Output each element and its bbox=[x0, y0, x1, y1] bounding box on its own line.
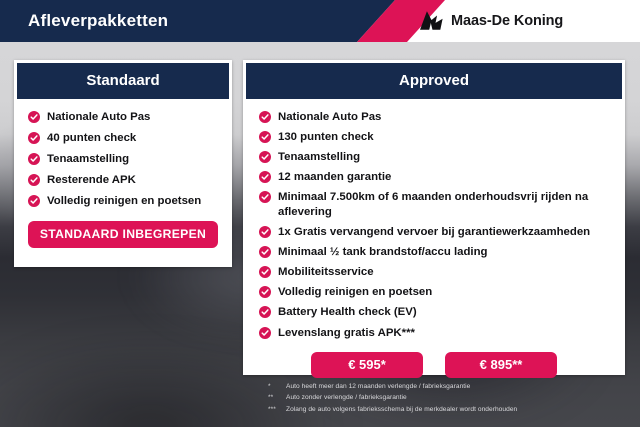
list-item-label: 1x Gratis vervangend vervoer bij garanti… bbox=[278, 225, 590, 240]
card-approved-body: Nationale Auto Pas 130 punten check Tena… bbox=[243, 99, 625, 378]
check-circle-icon bbox=[259, 286, 271, 298]
list-item: Nationale Auto Pas bbox=[259, 110, 615, 125]
page-header: Afleverpakketten Maas-De Koning bbox=[0, 0, 640, 42]
price-button-row: € 595* € 895** bbox=[243, 352, 625, 378]
list-item-label: Volledig reinigen en poetsen bbox=[47, 194, 201, 209]
footnote-text: Auto heeft meer dan 12 maanden verlengde… bbox=[286, 381, 470, 392]
footnote-row: ** Auto zonder verlengde / fabrieksgaran… bbox=[268, 392, 628, 403]
list-item-label: Mobiliteitsservice bbox=[278, 265, 374, 280]
check-circle-icon bbox=[259, 191, 271, 203]
list-item: Levenslang gratis APK*** bbox=[259, 326, 615, 341]
list-item-label: 130 punten check bbox=[278, 130, 374, 145]
list-item-label: Nationale Auto Pas bbox=[278, 110, 381, 125]
footnote-text: Auto zonder verlengde / fabrieksgarantie bbox=[286, 392, 407, 403]
check-circle-icon bbox=[28, 195, 40, 207]
card-approved: Approved Nationale Auto Pas 130 punten c… bbox=[243, 60, 625, 375]
approved-feature-list: Nationale Auto Pas 130 punten check Tena… bbox=[243, 110, 625, 341]
check-circle-icon bbox=[259, 111, 271, 123]
check-circle-icon bbox=[259, 131, 271, 143]
list-item-label: Battery Health check (EV) bbox=[278, 305, 417, 320]
check-circle-icon bbox=[259, 327, 271, 339]
afleverpakketten-page: Afleverpakketten Maas-De Koning Standaar… bbox=[0, 0, 640, 427]
list-item-label: 12 maanden garantie bbox=[278, 170, 391, 185]
list-item: Tenaamstelling bbox=[259, 150, 615, 165]
list-item-label: Nationale Auto Pas bbox=[47, 110, 150, 125]
list-item: 12 maanden garantie bbox=[259, 170, 615, 185]
standaard-inbegrepen-button[interactable]: STANDAARD INBEGREPEN bbox=[28, 221, 218, 248]
card-standaard-title: Standaard bbox=[17, 63, 229, 99]
check-circle-icon bbox=[28, 153, 40, 165]
check-circle-icon bbox=[259, 266, 271, 278]
list-item: 40 punten check bbox=[28, 131, 224, 146]
list-item: 1x Gratis vervangend vervoer bij garanti… bbox=[259, 225, 615, 240]
check-circle-icon bbox=[259, 226, 271, 238]
list-item: Resterende APK bbox=[28, 173, 224, 188]
list-item-label: Volledig reinigen en poetsen bbox=[278, 285, 432, 300]
check-circle-icon bbox=[259, 151, 271, 163]
footnote-marker: *** bbox=[268, 404, 286, 415]
brand-name: Maas-De Koning bbox=[451, 13, 563, 29]
footnote-marker: * bbox=[268, 381, 286, 392]
check-circle-icon bbox=[28, 111, 40, 123]
maas-de-koning-logo-icon bbox=[420, 11, 444, 31]
card-standaard: Standaard Nationale Auto Pas 40 punten c… bbox=[14, 60, 232, 267]
list-item: Volledig reinigen en poetsen bbox=[259, 285, 615, 300]
check-circle-icon bbox=[259, 246, 271, 258]
price-button-895[interactable]: € 895** bbox=[445, 352, 557, 378]
footnote-text: Zolang de auto volgens fabrieksschema bi… bbox=[286, 404, 517, 415]
price-button-595[interactable]: € 595* bbox=[311, 352, 423, 378]
footnote-row: *** Zolang de auto volgens fabrieksschem… bbox=[268, 404, 628, 415]
footnote-row: * Auto heeft meer dan 12 maanden verleng… bbox=[268, 381, 628, 392]
page-title: Afleverpakketten bbox=[28, 0, 168, 42]
check-circle-icon bbox=[28, 132, 40, 144]
list-item: Tenaamstelling bbox=[28, 152, 224, 167]
check-circle-icon bbox=[259, 306, 271, 318]
list-item-label: Tenaamstelling bbox=[47, 152, 129, 167]
list-item: Minimaal ½ tank brandstof/accu lading bbox=[259, 245, 615, 260]
list-item: 130 punten check bbox=[259, 130, 615, 145]
standaard-feature-list: Nationale Auto Pas 40 punten check Tenaa… bbox=[14, 110, 232, 209]
footnote-marker: ** bbox=[268, 392, 286, 403]
list-item-label: Levenslang gratis APK*** bbox=[278, 326, 415, 341]
list-item-label: Tenaamstelling bbox=[278, 150, 360, 165]
brand-logo: Maas-De Koning bbox=[420, 0, 563, 42]
list-item-label: Minimaal ½ tank brandstof/accu lading bbox=[278, 245, 488, 260]
list-item: Battery Health check (EV) bbox=[259, 305, 615, 320]
footnotes: * Auto heeft meer dan 12 maanden verleng… bbox=[268, 381, 628, 415]
list-item: Minimaal 7.500km of 6 maanden onderhouds… bbox=[259, 190, 615, 220]
card-approved-title: Approved bbox=[246, 63, 622, 99]
list-item-label: Resterende APK bbox=[47, 173, 136, 188]
list-item: Nationale Auto Pas bbox=[28, 110, 224, 125]
list-item: Mobiliteitsservice bbox=[259, 265, 615, 280]
list-item-label: 40 punten check bbox=[47, 131, 136, 146]
list-item: Volledig reinigen en poetsen bbox=[28, 194, 224, 209]
card-standaard-body: Nationale Auto Pas 40 punten check Tenaa… bbox=[14, 99, 232, 248]
check-circle-icon bbox=[259, 171, 271, 183]
check-circle-icon bbox=[28, 174, 40, 186]
list-item-label: Minimaal 7.500km of 6 maanden onderhouds… bbox=[278, 190, 615, 220]
